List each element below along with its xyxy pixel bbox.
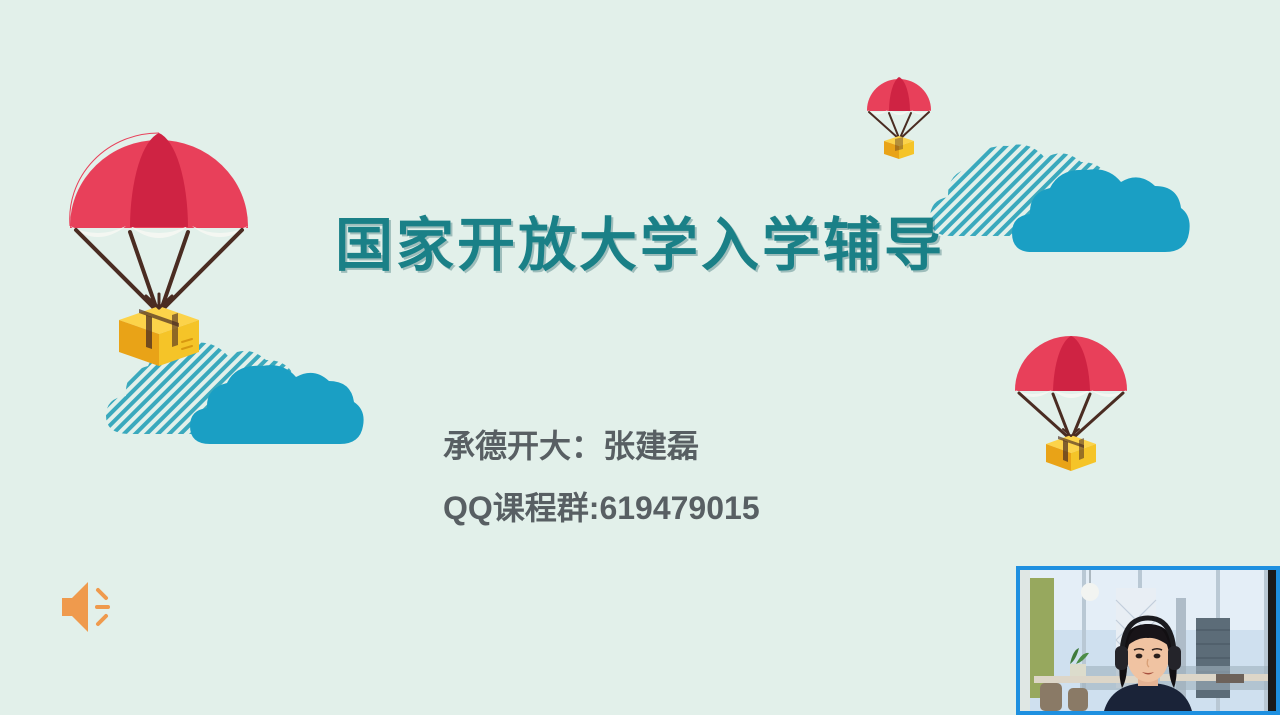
presentation-slide: 国家开放大学入学辅导 承德开大：张建磊 QQ课程群:619479015 0 (0, 0, 1280, 715)
webcam-video-frame: 0 (1020, 570, 1276, 711)
subtitle-presenter: 承德开大：张建磊 (443, 415, 760, 477)
parachute-large-left (68, 128, 250, 368)
speaker-icon[interactable] (58, 576, 114, 638)
cloud-left-solid (190, 364, 366, 446)
subtitle-block: 承德开大：张建磊 QQ课程群:619479015 (443, 415, 760, 539)
cloud-right-solid (1012, 168, 1192, 254)
subtitle-qq-group: QQ课程群:619479015 (443, 477, 760, 539)
parachute-small-top (866, 74, 932, 162)
presenter-webcam[interactable]: 0 (1016, 566, 1280, 715)
parachute-medium-right (1014, 332, 1128, 472)
